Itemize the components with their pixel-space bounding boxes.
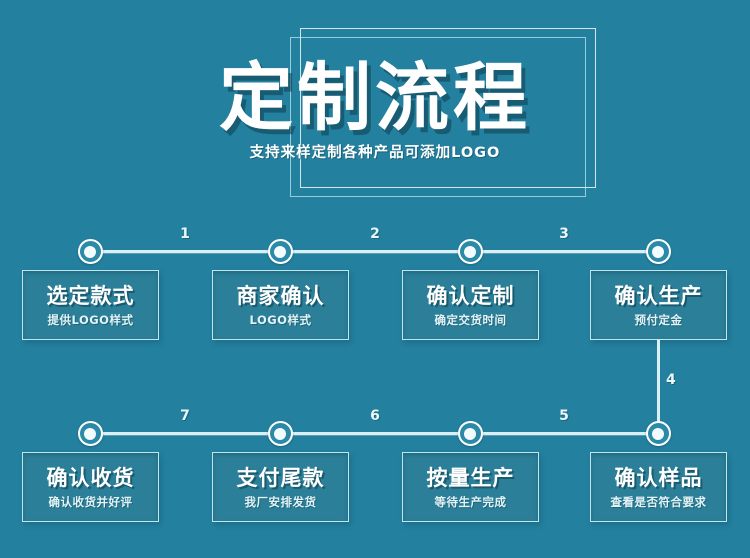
segment-number: 2 (370, 226, 380, 242)
flow-node (646, 421, 671, 446)
step-title: 选定款式 (47, 284, 135, 309)
page-subtitle: 支持来样定制各种产品可添加LOGO (0, 144, 750, 162)
infographic-canvas: 定制流程 支持来样定制各种产品可添加LOGO 1 2 3 选定款式 提供LOGO… (0, 0, 750, 558)
step-title: 商家确认 (237, 284, 325, 309)
step-subtitle: 查看是否符合要求 (611, 495, 707, 509)
step-title: 确认定制 (427, 284, 515, 309)
flow-step-card: 确认定制 确定交货时间 (402, 270, 539, 340)
flow-node (458, 239, 483, 264)
flow-node (646, 239, 671, 264)
segment-number: 7 (180, 408, 190, 424)
flow-step-card: 确认样品 查看是否符合要求 (590, 452, 727, 522)
step-subtitle: 等待生产完成 (435, 495, 507, 509)
flow-rail-1 (90, 250, 658, 253)
segment-number: 6 (370, 408, 380, 424)
segment-number: 4 (666, 372, 676, 388)
step-subtitle: 提供LOGO样式 (48, 313, 134, 327)
segment-number: 1 (180, 226, 190, 242)
step-subtitle: 确定交货时间 (435, 313, 507, 327)
step-title: 按量生产 (427, 466, 515, 491)
step-subtitle: 确认收货并好评 (49, 495, 133, 509)
segment-number: 3 (559, 226, 569, 242)
step-title: 确认收货 (47, 466, 135, 491)
step-title: 支付尾款 (237, 466, 325, 491)
flow-connector-vertical (657, 340, 660, 432)
flow-node (458, 421, 483, 446)
flow-step-card: 按量生产 等待生产完成 (402, 452, 539, 522)
flow-node (268, 239, 293, 264)
segment-number: 5 (559, 408, 569, 424)
page-title: 定制流程 (0, 58, 750, 138)
flow-step-card: 确认生产 预付定金 (590, 270, 727, 340)
step-subtitle: 预付定金 (635, 313, 683, 327)
step-title: 确认生产 (615, 284, 703, 309)
flow-step-card: 支付尾款 我厂安排发货 (212, 452, 349, 522)
flow-step-card: 选定款式 提供LOGO样式 (22, 270, 159, 340)
flow-rail-2 (90, 432, 658, 435)
flow-step-card: 确认收货 确认收货并好评 (22, 452, 159, 522)
flow-node (78, 239, 103, 264)
step-title: 确认样品 (615, 466, 703, 491)
step-subtitle: LOGO样式 (250, 313, 312, 327)
flow-node (78, 421, 103, 446)
flow-node (268, 421, 293, 446)
flow-step-card: 商家确认 LOGO样式 (212, 270, 349, 340)
step-subtitle: 我厂安排发货 (245, 495, 317, 509)
